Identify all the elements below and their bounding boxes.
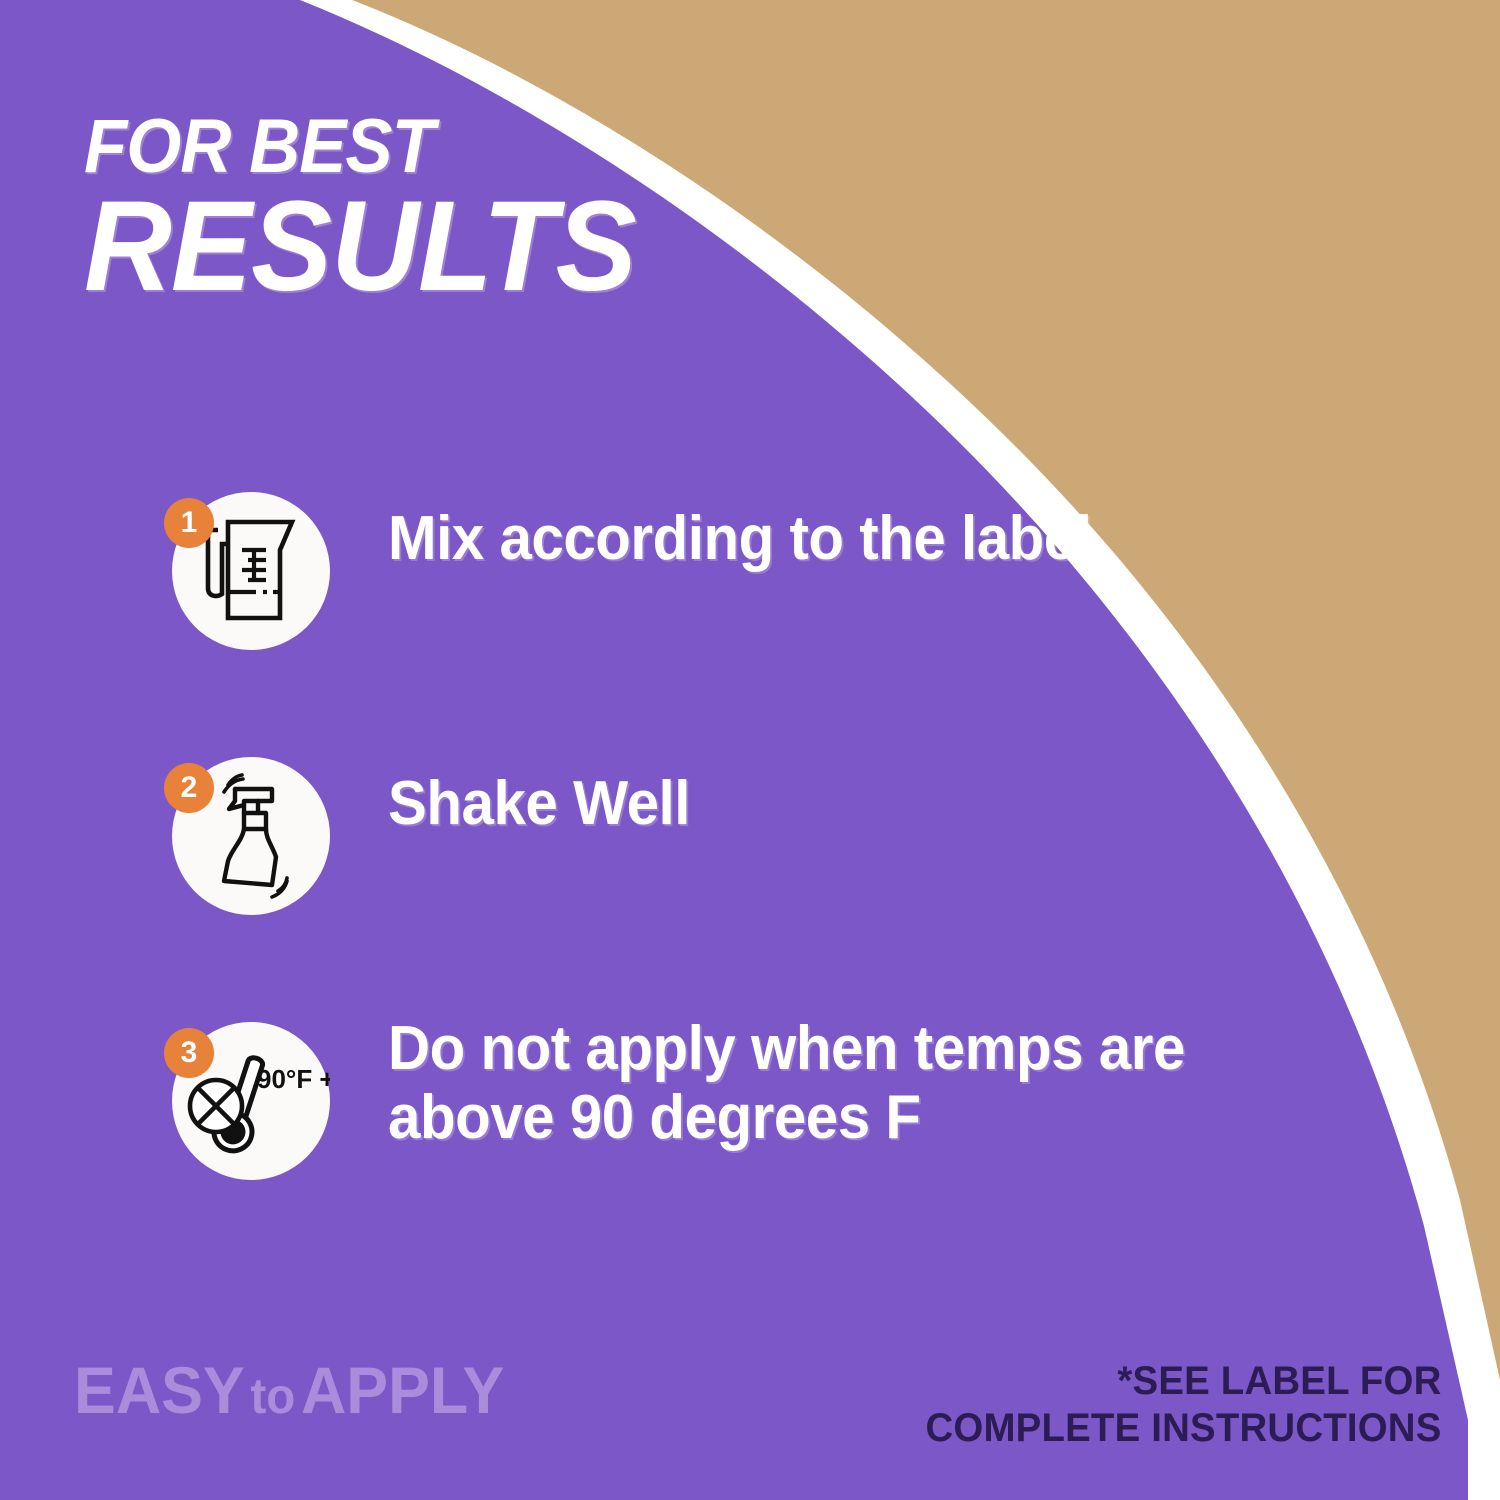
step-1-label: Mix according to the label [388, 504, 1347, 573]
tagline-word-to: to [245, 1368, 301, 1424]
step-number-badge-2: 2 [164, 763, 214, 813]
step-item-3: 90°F + 3 Do not apply when temps are abo… [0, 1008, 1500, 1273]
page-title: FOR BEST RESULTS [84, 112, 665, 306]
label-disclaimer-line-2: COMPLETE INSTRUCTIONS [926, 1405, 1442, 1452]
step-item-2: 2 Shake Well [0, 743, 1500, 1008]
tagline-word-easy: EASY [74, 1353, 245, 1427]
label-disclaimer: *SEE LABEL FOR COMPLETE INSTRUCTIONS [926, 1358, 1442, 1452]
step-1-icon-group: 1 [168, 492, 332, 656]
step-3-icon-group: 90°F + 3 [168, 1022, 332, 1186]
step-number-badge-1: 1 [164, 498, 214, 548]
easy-to-apply-tagline: EASYtoAPPLY [74, 1352, 504, 1428]
step-number-badge-3: 3 [164, 1028, 214, 1078]
step-item-1: 1 Mix according to the label [0, 478, 1500, 743]
step-3-label: Do not apply when temps are above 90 deg… [388, 1014, 1347, 1153]
step-3-label-line-2: above 90 degrees F [388, 1083, 1347, 1152]
infographic-page: FOR BEST RESULTS [0, 0, 1500, 1500]
step-2-icon-group: 2 [168, 757, 332, 921]
step-2-label: Shake Well [388, 769, 1347, 838]
label-disclaimer-line-1: *SEE LABEL FOR [926, 1358, 1442, 1405]
page-title-line-1: FOR BEST [84, 112, 624, 182]
steps-list: 1 Mix according to the label [0, 478, 1500, 1273]
tagline-word-apply: APPLY [301, 1353, 504, 1427]
step-3-label-line-1: Do not apply when temps are [388, 1014, 1347, 1083]
page-title-line-2: RESULTS [84, 188, 636, 306]
temperature-threshold-label: 90°F + [257, 1064, 330, 1094]
